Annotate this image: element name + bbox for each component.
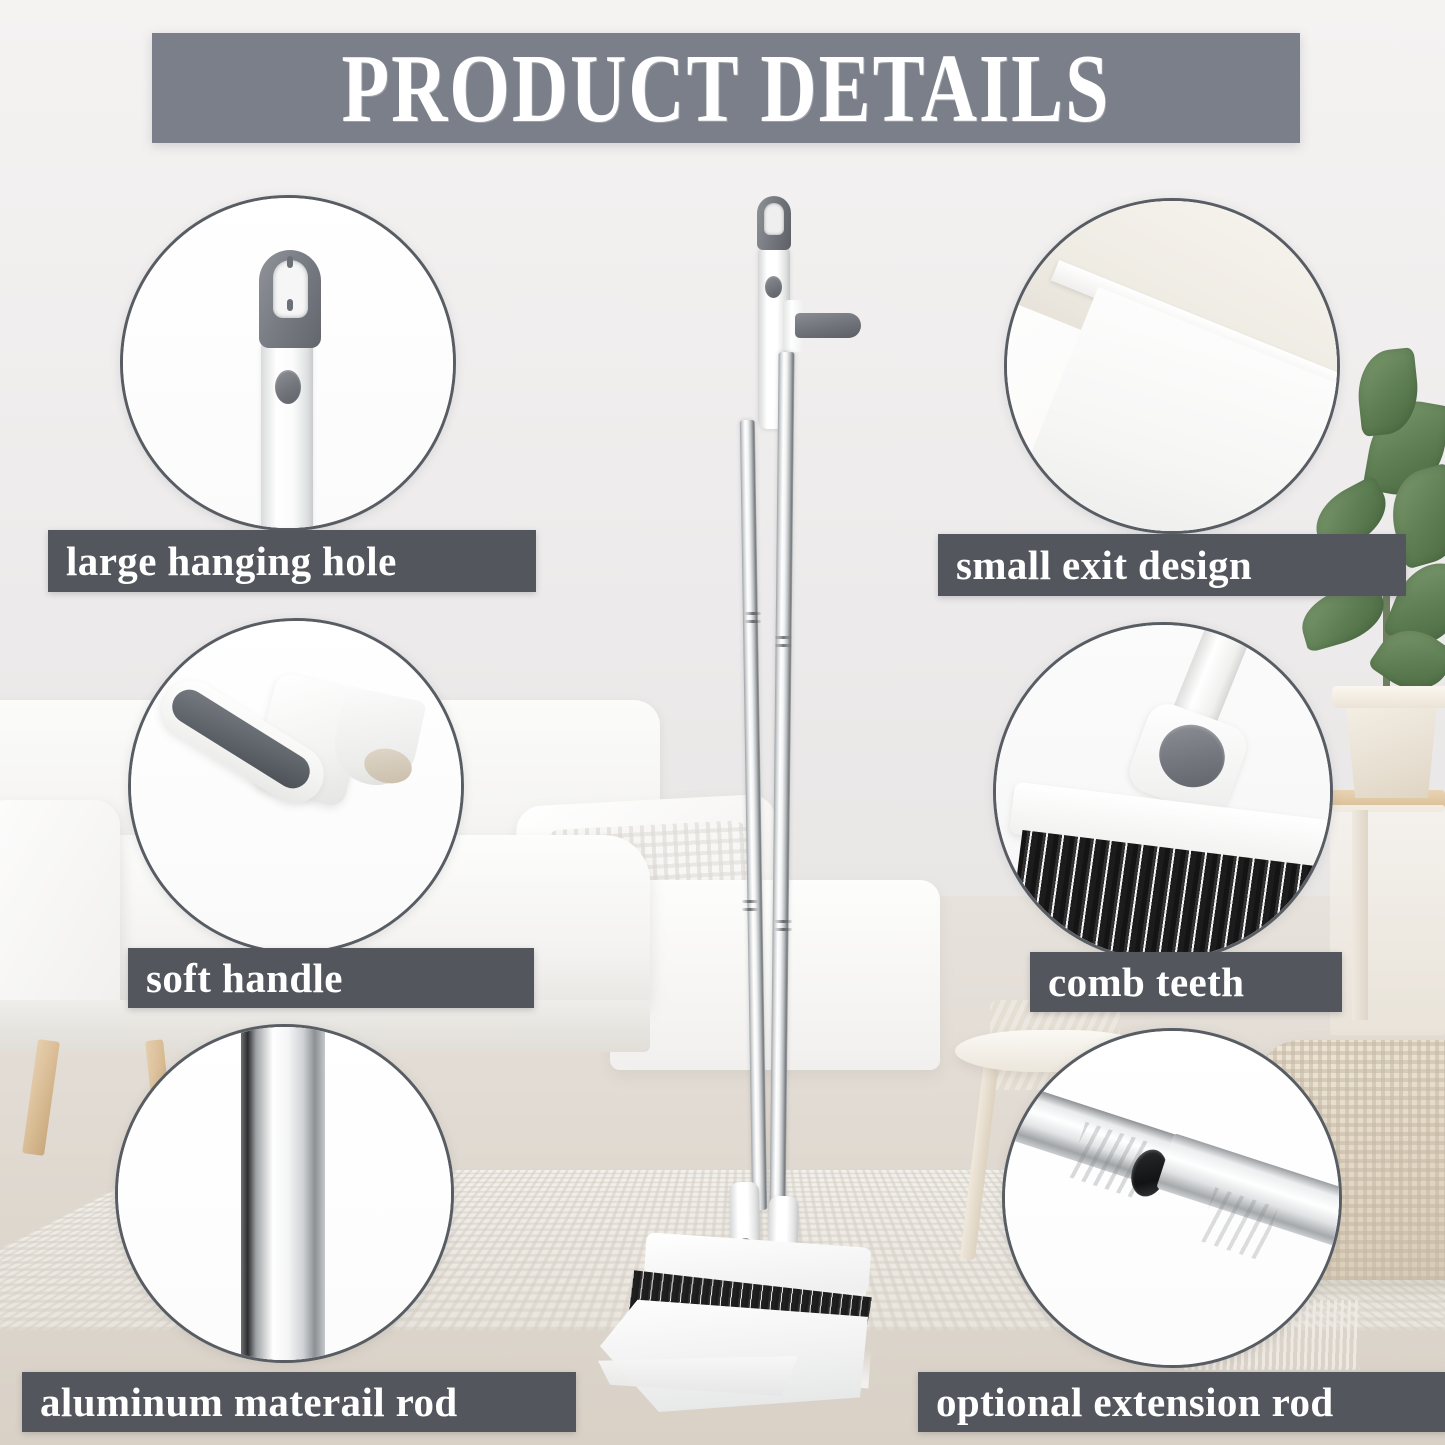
callout-circle-small-exit-design [1004, 198, 1340, 534]
brush-head-icon [996, 625, 1330, 959]
sofa-armrest [0, 800, 120, 1010]
callout-label-large-hanging-hole: large hanging hole [48, 530, 536, 592]
callout-label-aluminum-rod: aluminum materail rod [22, 1372, 576, 1432]
plant-pot-rim [1332, 686, 1445, 708]
sofa-seat-right [610, 880, 940, 1070]
callout-circle-large-hanging-hole [120, 195, 456, 531]
label-text: small exit design [956, 541, 1252, 589]
callout-label-comb-teeth: comb teeth [1030, 952, 1342, 1012]
hanging-hole-icon [123, 198, 453, 528]
side-table-leg [1352, 810, 1368, 1020]
callout-circle-extension-rod [1002, 1028, 1342, 1368]
callout-circle-aluminum-rod [115, 1024, 454, 1363]
side-table-body [1330, 805, 1445, 1035]
page-title-banner: PRODUCT DETAILS [152, 33, 1300, 143]
label-text: comb teeth [1048, 958, 1244, 1006]
label-text: aluminum materail rod [40, 1378, 458, 1426]
soft-handle-icon [131, 621, 461, 951]
infographic-canvas: PRODUCT DETAILS large hanging hole soft … [0, 0, 1445, 1445]
callout-circle-soft-handle [128, 618, 464, 954]
pan-edge-icon [1007, 201, 1337, 531]
callout-label-extension-rod: optional extension rod [918, 1372, 1445, 1432]
callout-label-small-exit-design: small exit design [938, 534, 1406, 596]
label-text: optional extension rod [936, 1378, 1334, 1426]
page-title: PRODUCT DETAILS [342, 31, 1111, 144]
aluminum-rod-icon [118, 1027, 451, 1360]
label-text: large hanging hole [66, 537, 397, 585]
extension-rod-icon [1005, 1031, 1339, 1365]
callout-circle-comb-teeth [993, 622, 1333, 962]
callout-label-soft-handle: soft handle [128, 948, 534, 1008]
label-text: soft handle [146, 954, 343, 1002]
